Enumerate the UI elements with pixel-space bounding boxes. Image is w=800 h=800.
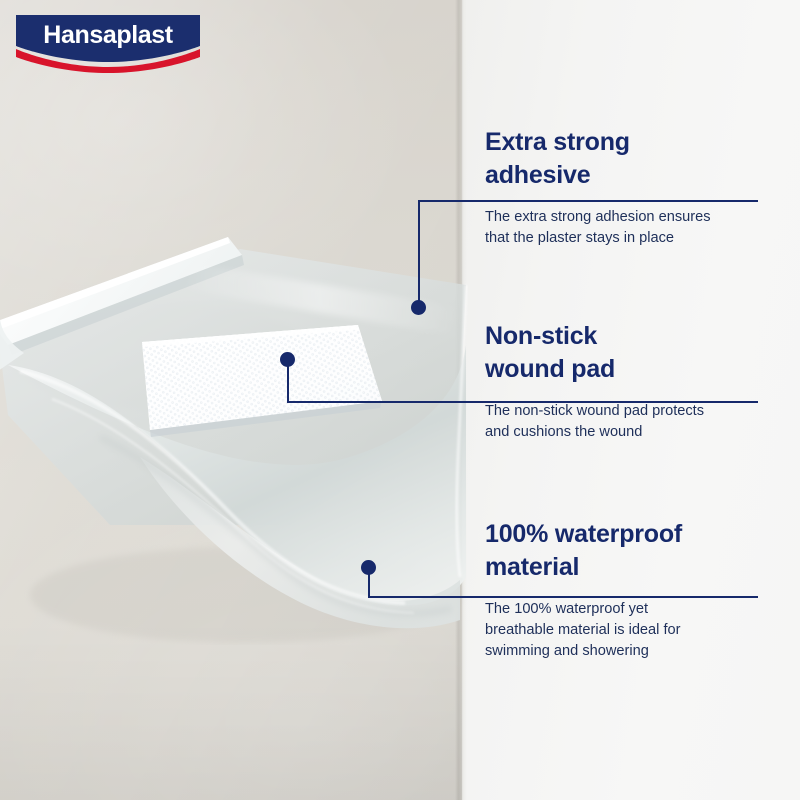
background-wall-left [0, 0, 462, 800]
feature-headline-adhesive: Extra strong adhesive [485, 126, 785, 191]
feature-section-waterproof: 100% waterproof material The 100% waterp… [485, 518, 785, 662]
hansaplast-logo: Hansaplast [14, 12, 202, 74]
logo-wordmark: Hansaplast [43, 21, 173, 49]
feature-body-waterproof: The 100% waterproof yet breathable mater… [485, 599, 785, 662]
feature-body-wound-pad: The non-stick wound pad protects and cus… [485, 401, 785, 443]
feature-section-adhesive: Extra strong adhesive The extra strong a… [485, 126, 785, 249]
feature-headline-waterproof: 100% waterproof material [485, 518, 785, 583]
feature-headline-wound-pad: Non-stick wound pad [485, 320, 785, 385]
feature-body-adhesive: The extra strong adhesion ensures that t… [485, 207, 785, 249]
feature-section-wound-pad: Non-stick wound pad The non-stick wound … [485, 320, 785, 443]
product-feature-infographic: Hansaplast [0, 0, 800, 800]
